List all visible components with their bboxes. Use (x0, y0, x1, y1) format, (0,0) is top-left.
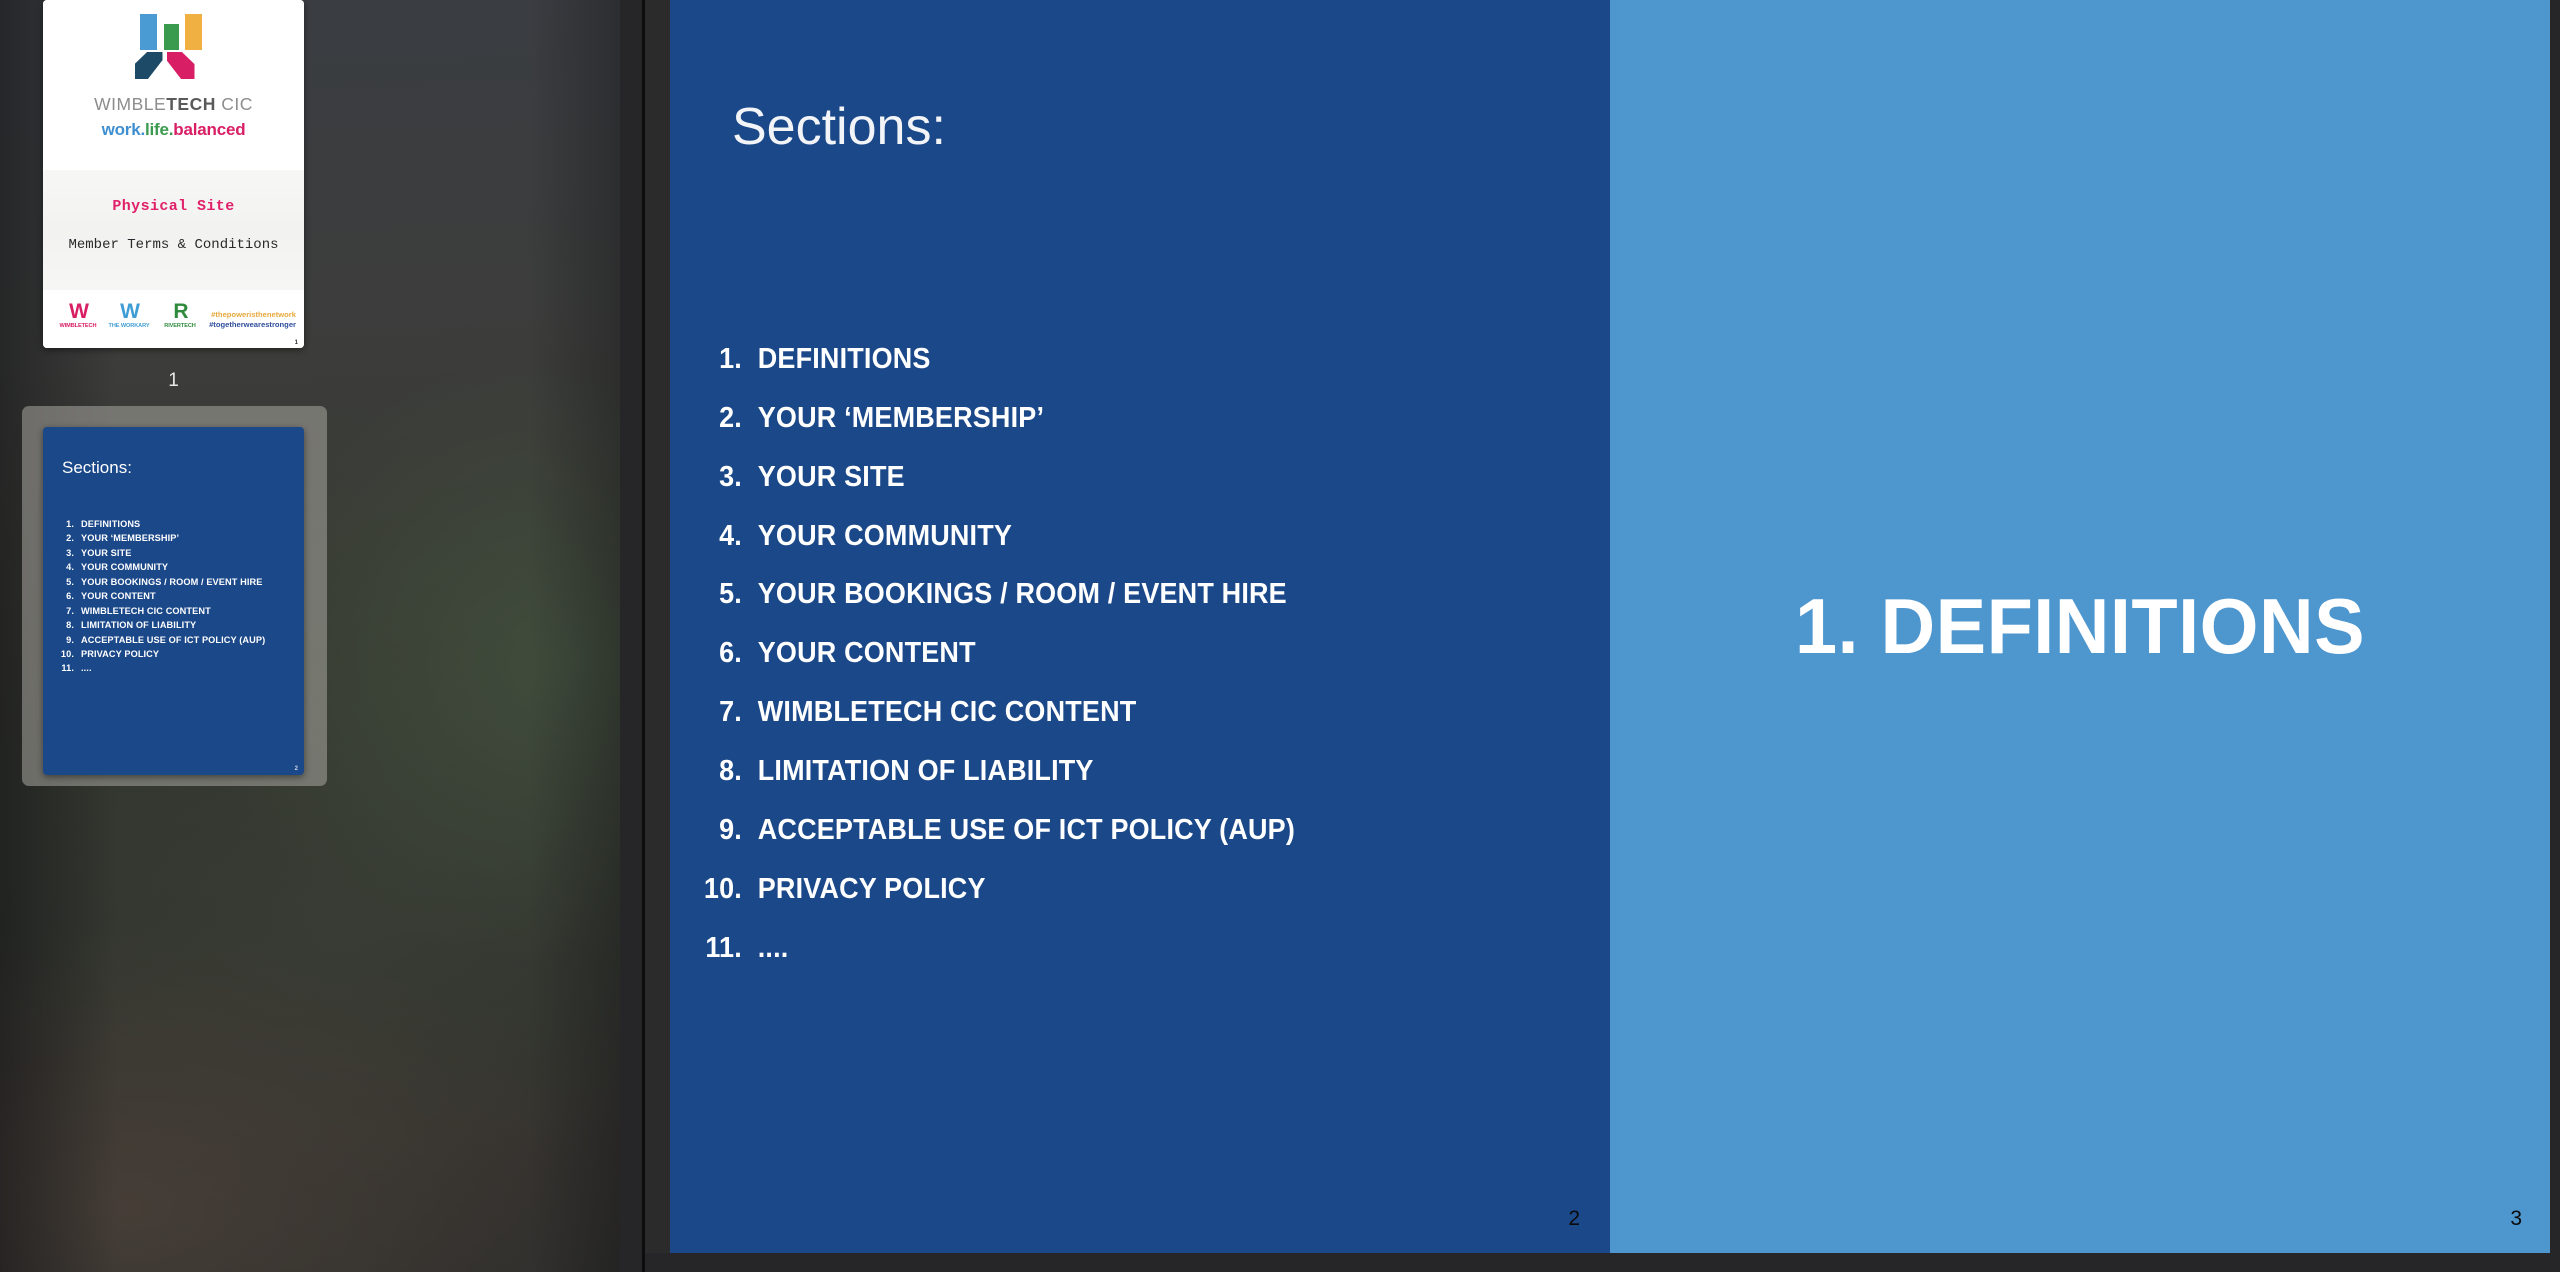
thumb2-item-label: DEFINITIONS (81, 517, 140, 531)
slide-item-number: 4. (688, 507, 758, 566)
logo-bar-orange (185, 14, 202, 50)
slide-list-item: 5.YOUR BOOKINGS / ROOM / EVENT HIRE (688, 565, 1536, 624)
logo-bar-green (164, 24, 179, 50)
logo-shape-pink (167, 52, 195, 79)
slide-item-number: 8. (688, 742, 758, 801)
slide-viewer: WIMBLETECH CIC work.life.balanced Physic… (0, 0, 2560, 1272)
brand-bold: TECH (166, 94, 216, 114)
thumb2-item-label: YOUR SITE (81, 546, 131, 560)
thumb2-heading: Sections: (62, 458, 132, 478)
hashtags: #thepoweristhenetwork #togetherwearestro… (209, 310, 296, 331)
partner-logo-wimbletech: W WIMBLETECH (57, 303, 99, 329)
slide-item-label: YOUR BOOKINGS / ROOM / EVENT HIRE (758, 565, 1287, 624)
thumb2-item-number: 5. (55, 575, 81, 589)
current-slide[interactable]: Sections: 1.DEFINITIONS 2.YOUR ‘MEMBERSH… (670, 0, 1610, 1253)
slide-list-item: 6.YOUR CONTENT (688, 624, 1536, 683)
thumb2-section-list: 1.DEFINITIONS 2.YOUR ‘MEMBERSHIP’ 3.YOUR… (55, 517, 296, 676)
thumbnail-index-1: 1 (43, 370, 304, 392)
thumb2-item-label: .... (81, 661, 92, 675)
thumb2-list-item: 5.YOUR BOOKINGS / ROOM / EVENT HIRE (55, 575, 296, 589)
thumb2-item-number: 7. (55, 604, 81, 618)
thumb2-item-number: 6. (55, 589, 81, 603)
thumb2-item-number: 9. (55, 633, 81, 647)
wimbletech-logo-icon (126, 14, 222, 88)
thumb2-list-item: 2.YOUR ‘MEMBERSHIP’ (55, 531, 296, 545)
slide-list-item: 1.DEFINITIONS (688, 330, 1536, 389)
next-slide[interactable]: 1. DEFINITIONS 3 (1610, 0, 2550, 1253)
thumb2-item-number: 8. (55, 618, 81, 632)
slide-item-number: 11. (688, 919, 758, 978)
logo-shape-navy (135, 52, 163, 79)
slide-item-number: 6. (688, 624, 758, 683)
thumb2-item-number: 4. (55, 560, 81, 574)
slide-item-label: YOUR CONTENT (758, 624, 976, 683)
sidebar-divider (642, 0, 645, 1272)
brand-wordmark: WIMBLETECH CIC (43, 94, 304, 115)
slide-item-label: YOUR COMMUNITY (758, 507, 1012, 566)
thumb2-item-label: YOUR BOOKINGS / ROOM / EVENT HIRE (81, 575, 262, 589)
slide-item-label: .... (758, 919, 789, 978)
viewer-bottom-bar (645, 1253, 2560, 1272)
slide-item-label: LIMITATION OF LIABILITY (758, 742, 1094, 801)
slide-heading: Sections: (732, 97, 946, 157)
thumb2-item-number: 11. (55, 661, 81, 675)
next-slide-page-number: 3 (2510, 1207, 2522, 1231)
thumb2-item-label: WIMBLETECH CIC CONTENT (81, 604, 211, 618)
thumb2-item-number: 1. (55, 517, 81, 531)
slide-list-item: 9.ACCEPTABLE USE OF ICT POLICY (AUP) (688, 801, 1536, 860)
thumb2-list-item: 1.DEFINITIONS (55, 517, 296, 531)
thumb2-item-number: 10. (55, 647, 81, 661)
partner-logo-workary: W THE WORKARY (108, 303, 150, 329)
thumb2-page-number: 2 (295, 766, 298, 772)
thumb2-list-item: 8.LIMITATION OF LIABILITY (55, 618, 296, 632)
rivertech-mark-icon: R (159, 303, 201, 322)
slide-item-label: YOUR SITE (758, 448, 905, 507)
thumb2-item-number: 3. (55, 546, 81, 560)
tagline-balanced: balanced (173, 120, 245, 139)
partner-name-wimbletech: WIMBLETECH (57, 323, 99, 329)
tagline-work: work (102, 120, 141, 139)
slide-item-label: YOUR ‘MEMBERSHIP’ (758, 389, 1044, 448)
thumb2-item-label: YOUR ‘MEMBERSHIP’ (81, 531, 179, 545)
thumb2-item-label: YOUR CONTENT (81, 589, 156, 603)
thumb2-list-item: 4.YOUR COMMUNITY (55, 560, 296, 574)
slide-list-item: 4.YOUR COMMUNITY (688, 507, 1536, 566)
viewer-right-edge (2550, 0, 2560, 1272)
slide-section-list: 1.DEFINITIONS 2.YOUR ‘MEMBERSHIP’ 3.YOUR… (688, 330, 1600, 977)
slide-list-item: 10.PRIVACY POLICY (688, 860, 1536, 919)
thumb2-list-item: 10.PRIVACY POLICY (55, 647, 296, 661)
slide-item-number: 2. (688, 389, 758, 448)
brand-light: WIMBLE (94, 94, 166, 114)
current-slide-page-number: 2 (1568, 1207, 1580, 1231)
slide-list-item: 2.YOUR ‘MEMBERSHIP’ (688, 389, 1536, 448)
thumb2-item-label: ACCEPTABLE USE OF ICT POLICY (AUP) (81, 633, 265, 647)
thumb2-list-item: 11..... (55, 661, 296, 675)
brand-suffix: CIC (216, 94, 253, 114)
thumb2-item-label: LIMITATION OF LIABILITY (81, 618, 196, 632)
tagline-life: life (145, 120, 169, 139)
logo-bar-blue (140, 14, 157, 50)
thumb2-list-item: 3.YOUR SITE (55, 546, 296, 560)
hashtag-together: #togetherwearestronger (209, 320, 296, 330)
sidebar-scroll-gutter[interactable] (620, 0, 642, 1272)
slide-item-label: DEFINITIONS (758, 330, 931, 389)
thumb2-item-label: PRIVACY POLICY (81, 647, 159, 661)
thumb1-subtitle: Physical Site (43, 198, 304, 215)
slide-item-label: PRIVACY POLICY (758, 860, 986, 919)
next-slide-title: 1. DEFINITIONS (1624, 0, 2536, 1253)
slide-list-item: 3.YOUR SITE (688, 448, 1536, 507)
hashtag-power: #thepoweristhenetwork (209, 310, 296, 320)
partner-logos: W WIMBLETECH W THE WORKARY R RIVERTECH (57, 303, 201, 329)
partner-name-workary: THE WORKARY (108, 323, 150, 329)
slide-thumbnail-sidebar[interactable]: WIMBLETECH CIC work.life.balanced Physic… (0, 0, 645, 1272)
slide-list-item: 8.LIMITATION OF LIABILITY (688, 742, 1536, 801)
slide-item-label: WIMBLETECH CIC CONTENT (758, 683, 1137, 742)
slide-item-number: 3. (688, 448, 758, 507)
slide-item-number: 1. (688, 330, 758, 389)
slide-item-number: 9. (688, 801, 758, 860)
thumb1-title: Member Terms & Conditions (65, 235, 282, 255)
thumb1-mid-band (43, 170, 304, 290)
slide-item-number: 10. (688, 860, 758, 919)
thumb2-item-label: YOUR COMMUNITY (81, 560, 168, 574)
slide-list-item: 11..... (688, 919, 1536, 978)
brand-tagline: work.life.balanced (43, 120, 304, 140)
slide-thumbnail-1[interactable]: WIMBLETECH CIC work.life.balanced Physic… (43, 0, 304, 348)
slide-item-number: 5. (688, 565, 758, 624)
slide-item-number: 7. (688, 683, 758, 742)
workary-mark-icon: W (108, 303, 150, 322)
thumb1-page-number: 1 (295, 340, 298, 346)
thumb2-item-number: 2. (55, 531, 81, 545)
thumb2-list-item: 9.ACCEPTABLE USE OF ICT POLICY (AUP) (55, 633, 296, 647)
partner-logo-rivertech: R RIVERTECH (159, 303, 201, 329)
partner-name-rivertech: RIVERTECH (159, 323, 201, 329)
wimbletech-mark-icon: W (57, 303, 99, 322)
slide-item-label: ACCEPTABLE USE OF ICT POLICY (AUP) (758, 801, 1295, 860)
slide-list-item: 7.WIMBLETECH CIC CONTENT (688, 683, 1536, 742)
thumb2-list-item: 7.WIMBLETECH CIC CONTENT (55, 604, 296, 618)
thumb2-list-item: 6.YOUR CONTENT (55, 589, 296, 603)
slide-thumbnail-2[interactable]: Sections: 1.DEFINITIONS 2.YOUR ‘MEMBERSH… (43, 427, 304, 775)
